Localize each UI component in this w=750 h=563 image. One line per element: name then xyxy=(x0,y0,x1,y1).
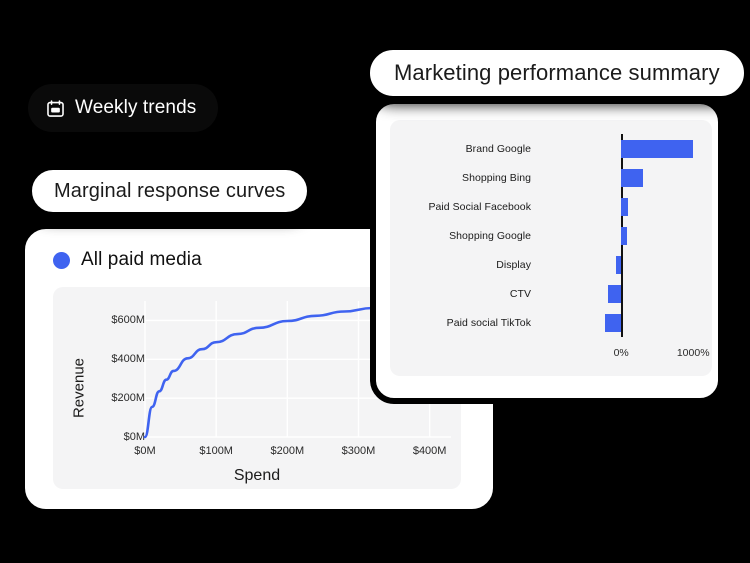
bar-category-label: Paid Social Facebook xyxy=(390,201,542,213)
calendar-icon xyxy=(46,99,65,118)
bar-fill xyxy=(621,169,643,187)
bar-track xyxy=(542,134,712,163)
bar-track xyxy=(542,221,712,250)
marketing-performance-summary-card: Brand GoogleShopping BingPaid Social Fac… xyxy=(370,98,724,404)
bar-track xyxy=(542,308,712,337)
bar-fill xyxy=(605,314,622,332)
bar-x-tick-label: 0% xyxy=(614,347,629,359)
chart-legend: All paid media xyxy=(53,249,202,271)
marginal-response-curves-pill[interactable]: Marginal response curves xyxy=(28,166,311,216)
marketing-performance-summary-label: Marketing performance summary xyxy=(394,60,720,86)
bar-track xyxy=(542,279,712,308)
screenshot-stage: All paid media Revenue $0M$200M$400M$600… xyxy=(0,0,750,563)
bar-category-label: CTV xyxy=(390,288,542,300)
legend-label: All paid media xyxy=(81,249,202,271)
bar-category-label: Brand Google xyxy=(390,143,542,155)
bar-category-label: Shopping Bing xyxy=(390,172,542,184)
performance-bar-chart: Brand GoogleShopping BingPaid Social Fac… xyxy=(390,120,712,376)
bar-row[interactable]: Paid Social Facebook xyxy=(390,192,712,221)
marketing-performance-summary-pill[interactable]: Marketing performance summary xyxy=(366,46,748,100)
marginal-response-curves-label: Marginal response curves xyxy=(54,180,285,203)
bar-fill xyxy=(621,140,693,158)
weekly-trends-label: Weekly trends xyxy=(75,97,196,119)
bar-fill xyxy=(616,256,621,274)
bar-x-tick-label: 1000% xyxy=(677,347,710,359)
bar-fill xyxy=(608,285,621,303)
x-axis-title: Spend xyxy=(53,467,461,485)
bar-rows: Brand GoogleShopping BingPaid Social Fac… xyxy=(390,134,712,337)
bar-row[interactable]: Paid social TikTok xyxy=(390,308,712,337)
bar-fill xyxy=(621,198,628,216)
weekly-trends-pill[interactable]: Weekly trends xyxy=(28,84,218,132)
bar-fill xyxy=(621,227,627,245)
bar-row[interactable]: Brand Google xyxy=(390,134,712,163)
bar-track xyxy=(542,192,712,221)
bar-row[interactable]: Shopping Bing xyxy=(390,163,712,192)
bar-track xyxy=(542,163,712,192)
bar-row[interactable]: Display xyxy=(390,250,712,279)
bar-category-label: Display xyxy=(390,259,542,271)
bar-category-label: Paid social TikTok xyxy=(390,317,542,329)
legend-color-dot xyxy=(53,252,70,269)
bar-row[interactable]: Shopping Google xyxy=(390,221,712,250)
bar-track xyxy=(542,250,712,279)
bar-category-label: Shopping Google xyxy=(390,230,542,242)
bar-row[interactable]: CTV xyxy=(390,279,712,308)
